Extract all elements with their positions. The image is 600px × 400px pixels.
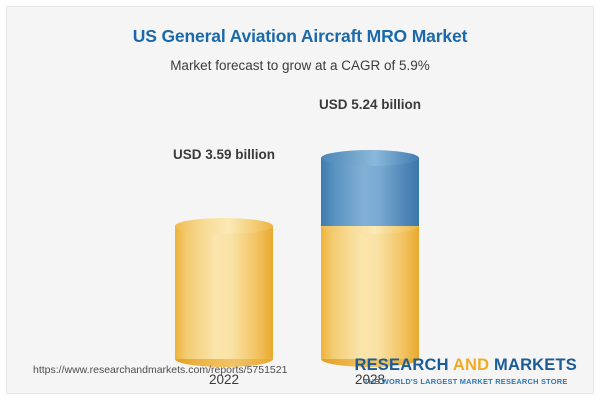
bar-cylinder-2022[interactable] [175, 226, 273, 359]
cylinder-body-base-2028 [321, 226, 419, 359]
logo-word-markets: MARKETS [489, 356, 577, 374]
cylinder-body-2022 [175, 226, 273, 359]
bar-group-2028: USD 5.24 billion 2028 [321, 127, 419, 359]
logo-tagline: THE WORLD'S LARGEST MARKET RESEARCH STOR… [354, 377, 577, 386]
cylinder-top-ellipse-2022 [175, 218, 273, 234]
cylinder-top-ellipse-2028 [321, 150, 419, 166]
logo-word-and: AND [453, 356, 489, 374]
bar-group-2022: USD 3.59 billion 2022 [175, 177, 273, 359]
chart-card: US General Aviation Aircraft MRO Market … [6, 6, 594, 394]
cylinder-body-growth-2028 [321, 158, 419, 226]
chart-plot-area: USD 3.59 billion 2022 USD 5.24 billion [7, 7, 594, 359]
logo-wordmark: RESEARCH AND MARKETS [354, 356, 577, 375]
logo-word-research: RESEARCH [354, 356, 452, 374]
bar-value-label-2028: USD 5.24 billion [260, 97, 480, 112]
chart-footer: https://www.researchandmarkets.com/repor… [7, 351, 594, 393]
bar-value-label-2022: USD 3.59 billion [114, 147, 334, 162]
report-url[interactable]: https://www.researchandmarkets.com/repor… [33, 364, 287, 376]
bar-segment-growth-2028[interactable] [321, 158, 419, 226]
research-and-markets-logo[interactable]: RESEARCH AND MARKETS THE WORLD'S LARGEST… [354, 356, 577, 386]
bar-segment-base-2028[interactable] [321, 226, 419, 359]
